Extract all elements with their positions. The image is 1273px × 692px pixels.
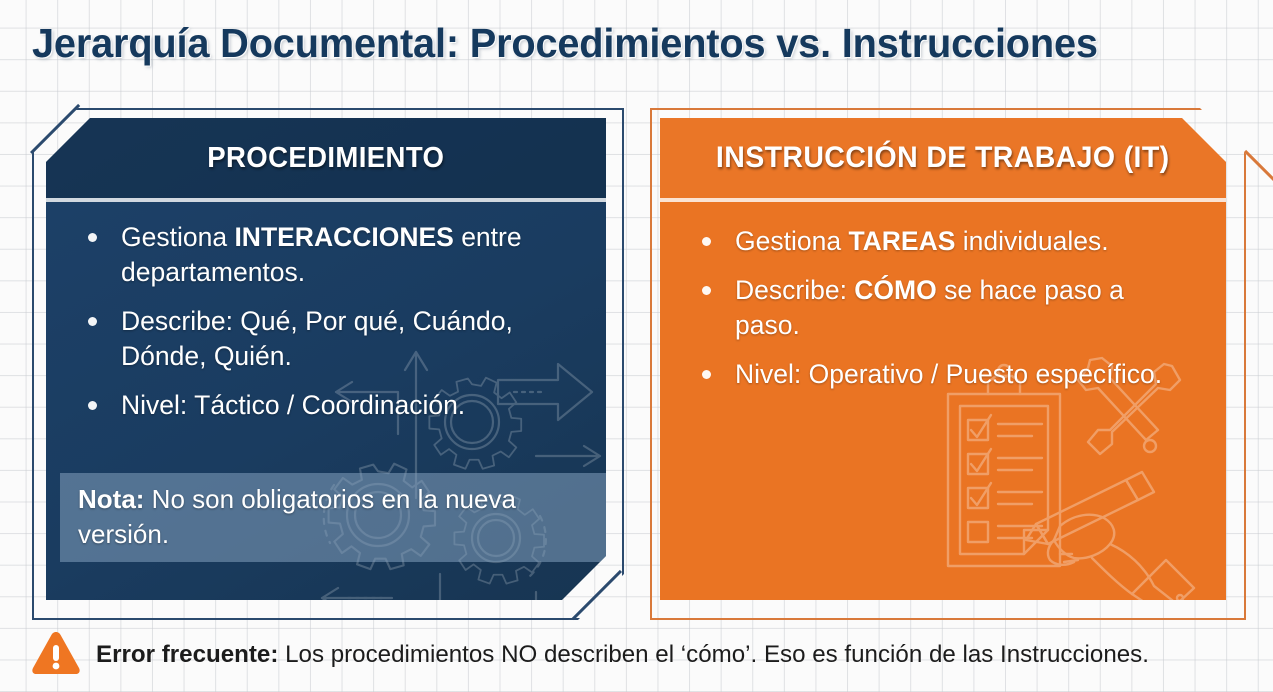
- page-title: Jerarquía Documental: Procedimientos vs.…: [32, 14, 1215, 72]
- procedimiento-header-label: PROCEDIMIENTO: [207, 142, 444, 175]
- list-item-text: Nivel: Táctico / Coordinación.: [121, 388, 576, 423]
- bullet-dot: [88, 233, 97, 242]
- footer-text: Error frecuente: Los procedimientos NO d…: [96, 640, 1149, 670]
- list-item-text: Describe: CÓMO se hace paso a paso.: [735, 273, 1196, 343]
- bullet-dot: [88, 317, 97, 326]
- procedimiento-bullet-list: Gestiona INTERACCIONES entre departament…: [46, 198, 606, 423]
- list-item: Nivel: Operativo / Puesto específico.: [690, 357, 1196, 392]
- procedimiento-card-body: PROCEDIMIENTO Gestiona INTERACCIONES ent…: [46, 118, 606, 600]
- instruccion-card-body: INSTRUCCIÓN DE TRABAJO (IT) Gestiona TAR…: [660, 118, 1226, 600]
- list-item-text: Nivel: Operativo / Puesto específico.: [735, 357, 1196, 392]
- list-item: Gestiona INTERACCIONES entre departament…: [76, 220, 576, 290]
- list-item-text: Describe: Qué, Por qué, Cuándo, Dónde, Q…: [121, 304, 576, 374]
- list-item: Gestiona TAREAS individuales.: [690, 224, 1196, 259]
- footer-label: Error frecuente:: [96, 641, 278, 668]
- procedimiento-card: PROCEDIMIENTO Gestiona INTERACCIONES ent…: [32, 108, 620, 616]
- bullet-dot: [702, 370, 711, 379]
- note-box: Nota: No son obligatorios en la nueva ve…: [60, 473, 606, 562]
- list-item: Nivel: Táctico / Coordinación.: [76, 388, 576, 423]
- footer-body: Los procedimientos NO describen el ‘cómo…: [278, 641, 1149, 668]
- instruccion-header-label: INSTRUCCIÓN DE TRABAJO (IT): [716, 141, 1170, 175]
- note-text: No son obligatorios en la nueva versión.: [78, 484, 516, 549]
- list-item: Describe: CÓMO se hace paso a paso.: [690, 273, 1196, 343]
- list-item-text: Gestiona TAREAS individuales.: [735, 224, 1196, 259]
- procedimiento-card-header: PROCEDIMIENTO: [46, 118, 606, 198]
- list-item-text: Gestiona INTERACCIONES entre departament…: [121, 220, 576, 290]
- instruccion-card: INSTRUCCIÓN DE TRABAJO (IT) Gestiona TAR…: [650, 108, 1242, 616]
- list-item: Describe: Qué, Por qué, Cuándo, Dónde, Q…: [76, 304, 576, 374]
- bullet-dot: [88, 401, 97, 410]
- instruccion-card-header: INSTRUCCIÓN DE TRABAJO (IT): [660, 118, 1226, 198]
- warning-triangle-icon: [30, 629, 82, 682]
- note-label: Nota:: [78, 484, 144, 514]
- instruccion-bullet-list: Gestiona TAREAS individuales. Describe: …: [660, 198, 1226, 392]
- bullet-dot: [702, 237, 711, 246]
- bullet-dot: [702, 286, 711, 295]
- footer-warning-bar: Error frecuente: Los procedimientos NO d…: [30, 626, 1250, 684]
